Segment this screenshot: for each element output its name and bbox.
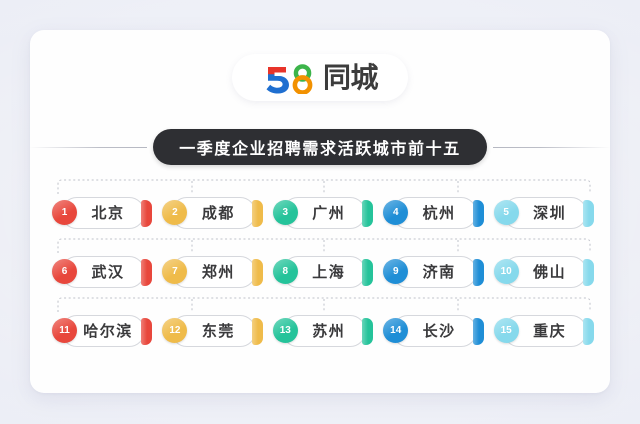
rank-badge: 3 (273, 200, 298, 225)
city-name: 佛山 (522, 265, 569, 280)
city-name: 苏州 (301, 324, 348, 339)
city-chip[interactable]: 郑州 7 (162, 256, 264, 288)
chip-accent-tab (362, 200, 373, 227)
city-name: 济南 (411, 265, 458, 280)
rank-number: 1 (62, 207, 68, 218)
rank-number: 13 (280, 325, 291, 336)
city-name: 郑州 (190, 265, 237, 280)
chip-accent-tab (252, 259, 263, 286)
rank-number: 6 (62, 266, 68, 277)
chip-accent-tab (583, 200, 594, 227)
rank-number: 2 (172, 207, 178, 218)
rank-number: 5 (503, 207, 509, 218)
bracket-connector (56, 296, 592, 313)
city-chip[interactable]: 北京 1 (52, 197, 154, 229)
ranking-row: 北京 1 成都 2 (30, 176, 610, 235)
city-chip[interactable]: 长沙 14 (383, 315, 485, 347)
city-name: 重庆 (522, 324, 569, 339)
rank-badge: 5 (494, 200, 519, 225)
city-ranking-list: 北京 1 成都 2 (30, 176, 610, 353)
chip-accent-tab (141, 200, 152, 227)
rank-badge: 13 (273, 318, 298, 343)
city-chip[interactable]: 武汉 6 (52, 256, 154, 288)
city-chip[interactable]: 杭州 4 (383, 197, 485, 229)
rank-badge: 6 (52, 259, 77, 284)
infographic-card: 同城 一季度企业招聘需求活跃城市前十五 北京 (30, 30, 610, 393)
city-chip[interactable]: 苏州 13 (273, 315, 375, 347)
city-name: 上海 (301, 265, 348, 280)
city-chip[interactable]: 东莞 12 (162, 315, 264, 347)
chip-accent-tab (362, 259, 373, 286)
rank-badge: 15 (494, 318, 519, 343)
chip-accent-tab (252, 200, 263, 227)
divider-right (493, 147, 610, 148)
bracket-connector (56, 237, 592, 254)
rank-number: 10 (501, 266, 512, 277)
city-name: 杭州 (411, 206, 458, 221)
page-title: 一季度企业招聘需求活跃城市前十五 (153, 129, 487, 165)
chip-group: 北京 1 成都 2 (52, 195, 596, 231)
logo-58-icon (262, 62, 318, 94)
rank-number: 3 (283, 207, 289, 218)
rank-badge: 11 (52, 318, 77, 343)
rank-number: 15 (501, 325, 512, 336)
rank-number: 11 (59, 325, 70, 336)
city-chip[interactable]: 佛山 10 (494, 256, 596, 288)
rank-number: 4 (393, 207, 399, 218)
rank-badge: 1 (52, 200, 77, 225)
rank-number: 7 (172, 266, 178, 277)
city-chip[interactable]: 广州 3 (273, 197, 375, 229)
ranking-row: 哈尔滨 11 东莞 12 (30, 294, 610, 353)
city-name: 长沙 (411, 324, 458, 339)
chip-accent-tab (473, 318, 484, 345)
chip-accent-tab (473, 259, 484, 286)
bracket-connector (56, 178, 592, 195)
chip-accent-tab (583, 259, 594, 286)
ranking-row: 武汉 6 郑州 7 (30, 235, 610, 294)
chip-group: 哈尔滨 11 东莞 12 (52, 313, 596, 349)
chip-accent-tab (583, 318, 594, 345)
rank-number: 9 (393, 266, 399, 277)
city-name: 成都 (190, 206, 237, 221)
logo-wordmark: 同城 (323, 64, 378, 92)
rank-badge: 10 (494, 259, 519, 284)
city-chip[interactable]: 重庆 15 (494, 315, 596, 347)
city-name: 深圳 (522, 206, 569, 221)
rank-number: 14 (390, 325, 401, 336)
city-chip[interactable]: 哈尔滨 11 (52, 315, 154, 347)
chip-accent-tab (473, 200, 484, 227)
city-name: 武汉 (80, 265, 127, 280)
city-name: 哈尔滨 (72, 324, 135, 339)
chip-accent-tab (141, 318, 152, 345)
rank-badge: 8 (273, 259, 298, 284)
chip-accent-tab (362, 318, 373, 345)
city-chip[interactable]: 成都 2 (162, 197, 264, 229)
city-chip[interactable]: 上海 8 (273, 256, 375, 288)
city-chip[interactable]: 深圳 5 (494, 197, 596, 229)
city-name: 广州 (301, 206, 348, 221)
divider-left (30, 147, 147, 148)
rank-number: 12 (169, 325, 180, 336)
brand-logo: 同城 (232, 54, 408, 101)
city-name: 东莞 (190, 324, 237, 339)
title-row: 一季度企业招聘需求活跃城市前十五 (30, 125, 610, 169)
city-chip[interactable]: 济南 9 (383, 256, 485, 288)
chip-accent-tab (141, 259, 152, 286)
city-name: 北京 (80, 206, 127, 221)
chip-group: 武汉 6 郑州 7 (52, 254, 596, 290)
chip-accent-tab (252, 318, 263, 345)
rank-number: 8 (283, 266, 289, 277)
